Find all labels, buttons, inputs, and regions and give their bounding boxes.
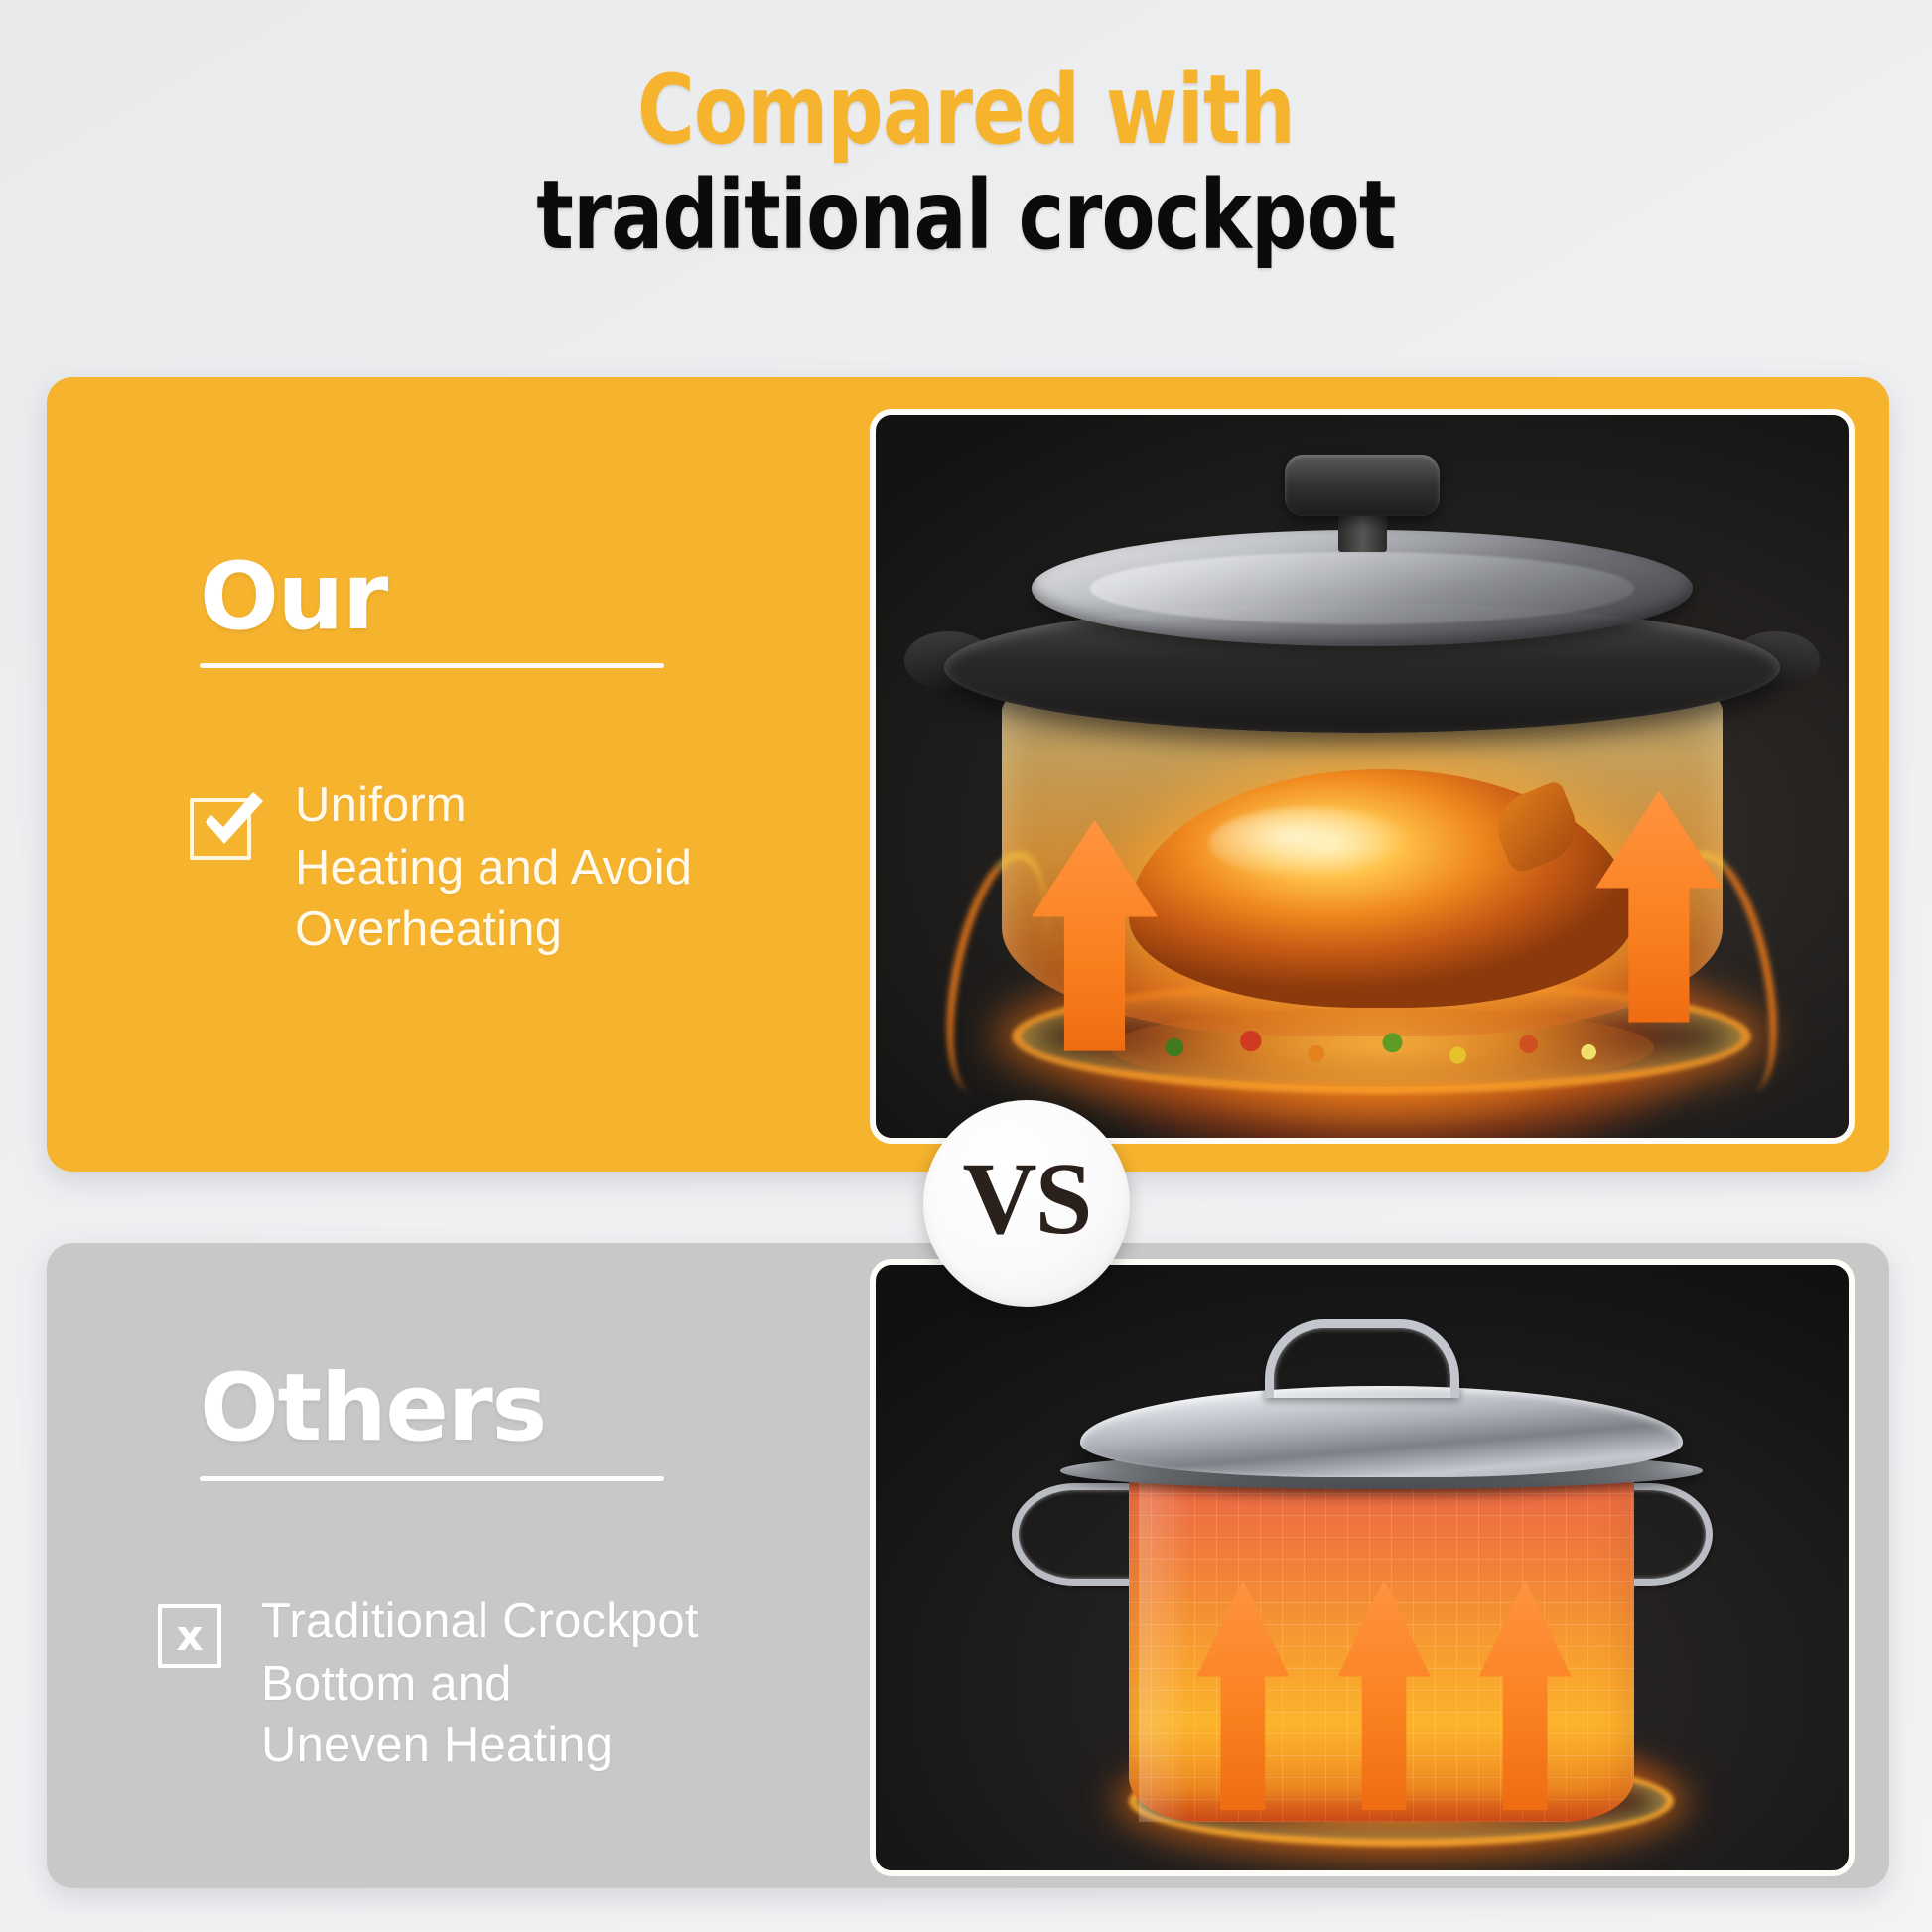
stockpot-illustration (876, 1265, 1849, 1870)
feature-text-ours: Uniform Heating and Avoid Overheating (295, 774, 692, 961)
crockpot-lid-reflection (1090, 552, 1635, 624)
headline-line-1: Compared with (174, 62, 1758, 161)
checkbox-x-icon: x (158, 1604, 223, 1670)
product-image-ours (870, 409, 1855, 1144)
feature-text-others: Traditional Crockpot Bottom and Uneven H… (261, 1590, 699, 1777)
vs-label: VS (963, 1148, 1091, 1251)
headline-line-2: traditional crockpot (174, 167, 1758, 266)
stockpot-handle-left (1012, 1483, 1138, 1587)
slow-cooker-illustration (876, 415, 1849, 1138)
checkbox-check-icon (186, 788, 257, 860)
check-mark (192, 782, 271, 862)
stockpot-lid-loop-handle (1265, 1319, 1459, 1398)
panel-divider-ours (200, 663, 664, 668)
chicken-highlight (1209, 807, 1412, 879)
crockpot-lid-knob (1285, 455, 1441, 516)
product-image-others (870, 1259, 1855, 1876)
x-mark: x (158, 1604, 221, 1668)
stockpot-highlight (1139, 1447, 1189, 1822)
feature-bullet-ours: Uniform Heating and Avoid Overheating (186, 774, 692, 961)
vs-badge: VS (923, 1100, 1130, 1307)
feature-bullet-others: x Traditional Crockpot Bottom and Uneven… (158, 1590, 699, 1777)
panel-title-others: Others (200, 1362, 546, 1455)
panel-divider-others (200, 1476, 664, 1481)
stockpot-glass-lid (1080, 1386, 1684, 1477)
page-title: Compared with traditional crockpot (0, 62, 1932, 266)
infographic-canvas: Compared with traditional crockpot Our U… (0, 0, 1932, 1932)
vegetables (1109, 1008, 1654, 1087)
panel-title-ours: Our (200, 551, 387, 644)
